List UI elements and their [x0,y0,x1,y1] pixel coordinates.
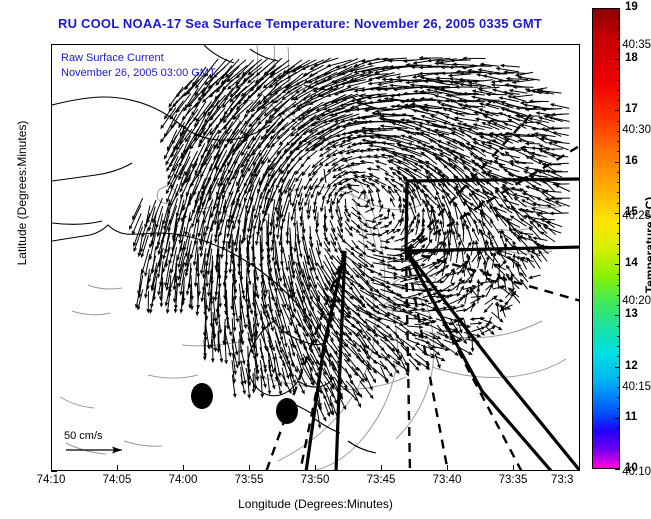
current-vector [361,160,374,163]
current-vector [514,86,534,89]
colorbar-minor-tick [617,336,620,337]
current-vector [462,223,465,242]
current-vector [471,303,475,312]
current-vector [513,95,534,98]
current-vector [360,150,374,153]
colorbar-minor-tick [617,80,620,81]
current-vector [527,258,535,268]
current-vector [381,277,397,280]
colorbar-minor-tick [617,141,620,142]
colorbar-tick-label: 10 [625,462,638,474]
current-vector [386,237,394,241]
current-vector [387,221,392,227]
current-vector [371,198,374,206]
current-vector [451,271,455,283]
current-vector [206,325,210,348]
radar-site-markers [191,383,298,424]
current-vector [519,139,535,142]
current-vector [496,302,499,317]
scale-bar-label: 50 cm/s [64,430,134,442]
colorbar-minor-tick [617,131,620,132]
current-vector [524,104,540,107]
current-vector [340,149,354,153]
current-vector [552,113,569,116]
xtick-label: 73:50 [285,474,345,486]
colorbar-minor-tick [617,438,620,439]
current-vector [365,374,372,390]
current-vector [551,104,569,109]
current-vector [275,87,297,103]
current-vector [351,220,360,227]
colorbar-minor-tick [617,408,620,409]
current-vector [519,232,533,235]
current-vector [261,333,269,352]
current-vector [347,184,359,187]
radar-site-marker [191,383,213,409]
xtick-label: 74:10 [21,474,81,486]
current-vector [372,183,380,191]
current-vector [515,198,527,207]
current-vector [401,210,404,220]
colorbar-minor-tick [617,172,620,173]
annotation-line-2: November 26, 2005 03:00 GMT [61,66,216,81]
current-vector [344,311,359,324]
xtick-mark [249,465,250,471]
current-vector [487,93,507,96]
current-vector [366,227,377,230]
current-vector [283,247,289,270]
current-vector [344,157,358,161]
current-vector [533,237,547,241]
radar-site-marker [276,398,298,424]
current-vector [443,269,455,283]
current-vector [408,293,422,297]
current-vector [204,213,211,236]
current-vector [447,230,450,248]
colorbar-minor-tick [617,274,620,275]
colorbar-axis-label: Temperature (°C) [643,170,651,320]
colorbar-minor-tick [617,356,620,357]
map-graphics [52,45,580,471]
current-vector [449,74,471,77]
colorbar-minor-tick [617,223,620,224]
xtick-label: 73:35 [483,474,543,486]
x-axis-label: Longitude (Degrees:Minutes) [51,497,580,511]
colorbar-minor-tick [617,182,620,183]
xtick-label: 73:3 [551,474,605,486]
current-vector [293,212,296,226]
temperature-colorbar[interactable] [592,8,620,469]
colorbar-minor-tick [617,69,620,70]
current-vector [380,225,387,228]
current-vector [147,291,150,312]
colorbar-tick [615,110,620,111]
current-vector [134,227,143,251]
xtick-label: 74:00 [153,474,213,486]
current-vector [321,198,325,211]
xtick-mark [51,465,52,471]
annotation-line-1: Raw Surface Current [61,51,216,66]
colorbar-tick-label: 18 [625,52,638,64]
current-vector [546,148,563,151]
current-vector [441,135,464,144]
current-vector [395,220,401,229]
ytick-mark [51,471,57,472]
current-vector [450,298,464,304]
current-vector [268,304,275,323]
surface-current-annotation: Raw Surface Current November 26, 2005 03… [61,51,216,81]
colorbar-minor-tick [617,285,620,286]
current-vector [338,234,345,243]
current-vector [325,219,328,231]
colorbar-tick [615,8,620,9]
current-vector [504,200,519,206]
current-vector [150,291,156,313]
colorbar-tick [615,213,620,214]
current-vector [332,158,344,166]
current-vector [179,220,184,244]
surface-current-vectors [130,57,570,428]
colorbar-tick-label: 11 [625,411,637,423]
current-vector [256,220,261,244]
current-vector [367,241,375,246]
current-vector [395,339,409,349]
current-vector [533,203,547,206]
current-vector [358,241,368,248]
current-vector [429,227,432,241]
current-vector [293,60,317,72]
colorbar-tick-label: 14 [625,257,638,269]
colorbar-minor-tick [617,459,620,460]
velocity-scale-bar: 50 cm/s [64,430,134,463]
current-vector [377,166,388,172]
colorbar-tick [615,264,620,265]
current-vector [435,354,440,368]
xtick-label: 74:05 [87,474,147,486]
current-vector [408,340,419,345]
current-vector [165,263,170,286]
current-vector [497,67,519,72]
xtick-mark [579,465,580,471]
current-vector [450,305,464,311]
current-vector [521,258,527,269]
current-vector [553,132,569,136]
xtick-label: 73:40 [417,474,477,486]
current-vector [503,276,506,291]
colorbar-minor-tick [617,192,620,193]
current-vector [457,278,462,290]
current-vector [529,275,540,279]
current-vector [510,89,528,93]
current-vector [286,220,289,244]
colorbar-tick [615,162,620,163]
colorbar-minor-tick [617,233,620,234]
current-vector [291,206,295,221]
current-vector [313,198,316,213]
current-vector [268,374,271,394]
current-vector [407,326,422,329]
current-vector [530,100,549,103]
current-vector [399,204,402,212]
current-vector [550,212,568,215]
current-vector [208,290,211,312]
colorbar-minor-tick [617,449,620,450]
current-vector [470,298,480,303]
current-vector [556,185,570,192]
colorbar-tick-label: 15 [625,206,638,218]
current-vector [485,296,497,305]
current-vector [513,80,535,84]
xtick-mark [183,465,184,471]
current-vector [378,199,381,206]
colorbar-minor-tick [617,387,620,388]
xtick-mark [447,465,448,471]
current-vector [470,322,481,325]
colorbar-minor-tick [617,28,620,29]
current-vector [221,234,226,258]
current-vector [481,232,486,249]
current-vector [294,227,297,252]
current-vector [464,57,486,60]
current-vector [380,346,389,358]
current-vector [353,171,366,174]
current-vector [206,220,213,244]
scale-bar-arrow-icon [64,442,134,458]
sst-current-map-figure: RU COOL NOAA-17 Sea Surface Temperature:… [0,0,651,519]
current-vector [380,270,397,275]
colorbar-tick [615,418,620,419]
current-vector [379,256,396,260]
colorbar-tick-label: 16 [625,155,638,167]
current-vector [367,268,382,275]
colorbar-tick-label: 17 [625,103,638,115]
colorbar-minor-tick [617,346,620,347]
current-vector [319,184,325,195]
figure-title: RU COOL NOAA-17 Sea Surface Temperature:… [0,16,600,31]
colorbar-tick [615,315,620,316]
current-vector [452,218,457,234]
xtick-mark [381,465,382,471]
colorbar-minor-tick [617,428,620,429]
current-vector [541,232,555,242]
xtick-mark [315,465,316,471]
colorbar-minor-tick [617,244,620,245]
current-vector [524,215,542,219]
current-vector [214,276,218,300]
colorbar-tick-label: 19 [625,1,638,13]
current-vector [382,185,388,192]
current-vector [457,287,463,297]
colorbar-minor-tick [617,100,620,101]
colorbar-minor-tick [617,121,620,122]
colorbar-tick-label: 12 [625,360,638,372]
current-vector [506,109,527,116]
colorbar-minor-tick [617,39,620,40]
colorbar-minor-tick [617,397,620,398]
current-vector [226,311,232,336]
colorbar-minor-tick [617,326,620,327]
colorbar-minor-tick [617,305,620,306]
current-vector [491,312,502,322]
current-vector [337,192,346,204]
current-vector [526,167,543,171]
colorbar-minor-tick [617,18,620,19]
current-vector [515,161,533,164]
colorbar-minor-tick [617,151,620,152]
current-vector [380,240,389,243]
current-vector [388,290,402,297]
colorbar-tick [615,469,620,470]
current-vector [336,198,339,213]
current-vector [373,263,391,267]
current-vector [554,141,570,144]
current-vector [210,304,213,326]
current-vector [359,205,369,208]
current-vector [133,198,143,219]
current-vector [408,333,422,338]
current-vector [483,223,492,235]
colorbar-minor-tick [617,295,620,296]
current-vector [328,178,339,187]
current-vector [392,213,395,219]
colorbar-minor-tick [617,49,620,50]
current-vector [216,304,219,325]
current-vector [501,64,520,67]
colorbar-minor-tick [617,254,620,255]
y-axis-label: Latitude (Degrees:Minutes) [15,98,29,288]
current-vector [376,161,387,165]
xtick-mark [513,465,514,471]
current-vector [387,209,390,219]
current-vector [547,221,562,227]
colorbar-tick-label: 13 [625,308,638,320]
current-vector [461,248,464,262]
current-vector [369,101,393,104]
current-vector [375,180,386,186]
colorbar-minor-tick [617,203,620,204]
colorbar-minor-tick [617,90,620,91]
xtick-mark [117,465,118,471]
current-vector [331,205,334,219]
colorbar-tick [615,59,620,60]
xtick-label: 73:55 [219,474,279,486]
colorbar-minor-tick [617,377,620,378]
current-vector [484,75,506,81]
current-vector [366,325,377,336]
current-vector [450,249,453,261]
xtick-label: 73:45 [351,474,411,486]
colorbar-tick [615,367,620,368]
map-plot-area[interactable]: Raw Surface Current November 26, 2005 03… [51,44,580,471]
current-vector [467,225,472,241]
current-vector [385,173,394,178]
current-vector [317,409,321,427]
